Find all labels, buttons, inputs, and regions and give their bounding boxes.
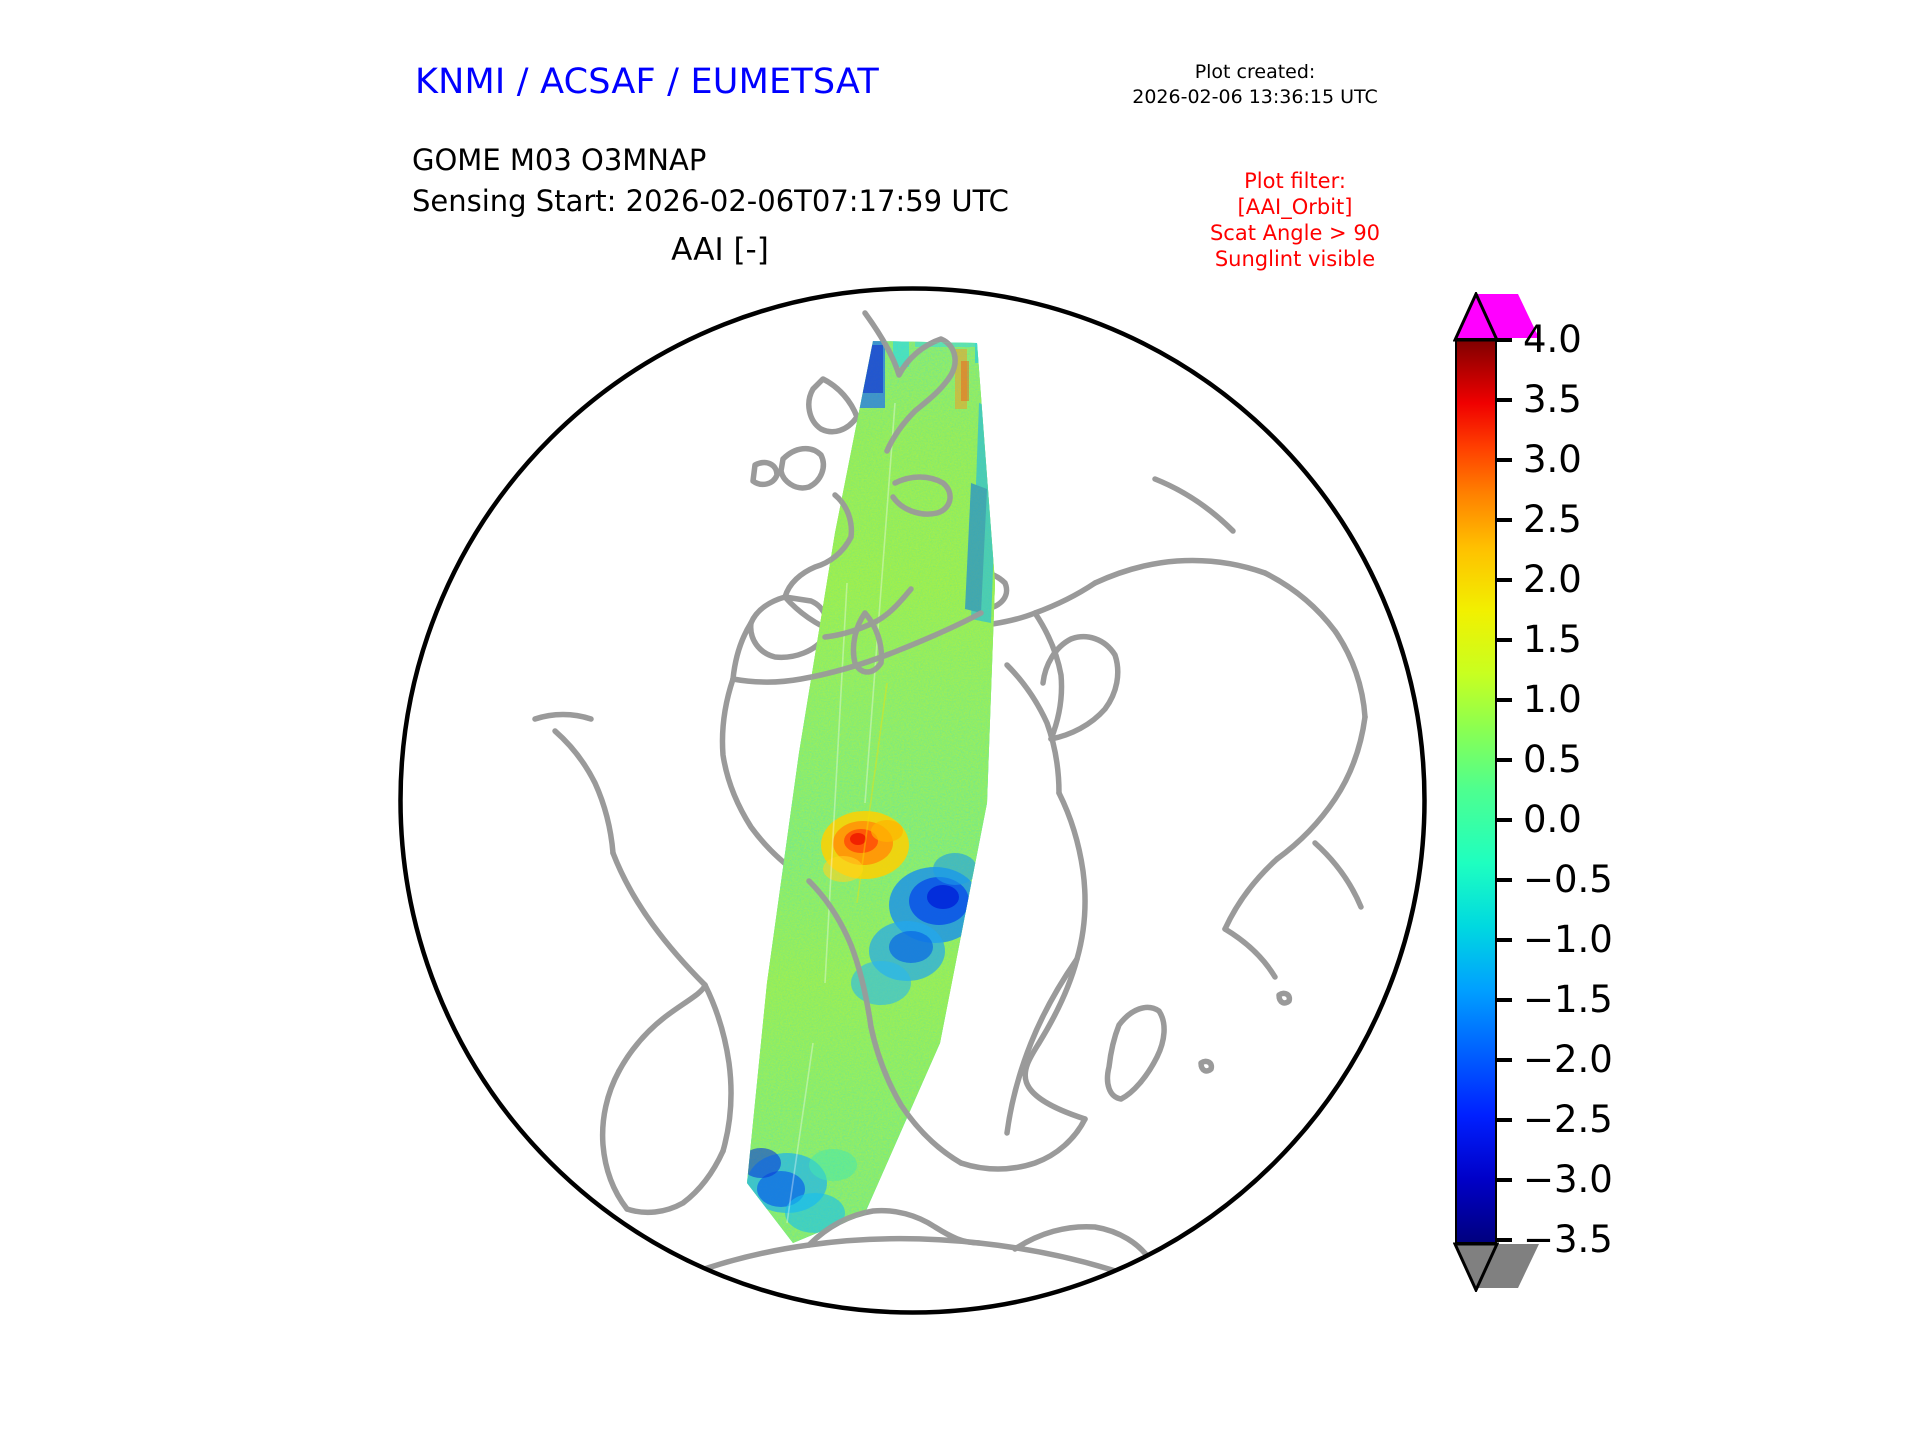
tick-mark bbox=[1497, 1178, 1512, 1182]
plot-filter-line-1: Scat Angle > 90 bbox=[1150, 220, 1440, 246]
plot-filter-block: Plot filter: [AAI_Orbit] Scat Angle > 90… bbox=[1150, 168, 1440, 272]
dataset-product-name: GOME M03 O3MNAP bbox=[412, 140, 1009, 181]
tick-mark bbox=[1497, 638, 1512, 642]
tick-mark bbox=[1497, 518, 1512, 522]
tick-label: 2.0 bbox=[1523, 558, 1582, 602]
dataset-sensing-start: Sensing Start: 2026-02-06T07:17:59 UTC bbox=[412, 181, 1009, 222]
tick-mark bbox=[1497, 1058, 1512, 1062]
plot-filter-line-0: [AAI_Orbit] bbox=[1150, 194, 1440, 220]
plot-created-block: Plot created: 2026-02-06 13:36:15 UTC bbox=[1090, 60, 1420, 110]
tick-mark bbox=[1497, 758, 1512, 762]
tick-label: 4.0 bbox=[1523, 318, 1582, 362]
tick-label: 0.0 bbox=[1523, 798, 1582, 842]
tick-label: 2.5 bbox=[1523, 498, 1582, 542]
tick-label: −2.5 bbox=[1523, 1098, 1613, 1142]
tick-label: 0.5 bbox=[1523, 738, 1582, 782]
tick-mark bbox=[1497, 578, 1512, 582]
plot-created-timestamp: 2026-02-06 13:36:15 UTC bbox=[1090, 85, 1420, 110]
plot-filter-title: Plot filter: bbox=[1150, 168, 1440, 194]
colorbar-ticks: 4.0 3.5 3.0 2.5 2.0 1.5 1.0 0.5 bbox=[1440, 280, 1840, 1320]
tick-label: −3.5 bbox=[1523, 1218, 1613, 1262]
tick-mark bbox=[1497, 878, 1512, 882]
tick-mark bbox=[1497, 1118, 1512, 1122]
tick-mark bbox=[1497, 938, 1512, 942]
tick-label: −1.5 bbox=[1523, 978, 1613, 1022]
tick-label: 3.0 bbox=[1523, 438, 1582, 482]
tick-label: −0.5 bbox=[1523, 858, 1613, 902]
tick-mark bbox=[1497, 398, 1512, 402]
colorbar-panel: 4.0 3.5 3.0 2.5 2.0 1.5 1.0 0.5 bbox=[1440, 280, 1840, 1320]
map-panel bbox=[395, 283, 1430, 1318]
tick-mark bbox=[1497, 1238, 1512, 1242]
plot-created-label: Plot created: bbox=[1090, 60, 1420, 85]
tick-mark bbox=[1497, 458, 1512, 462]
plot-filter-line-2: Sunglint visible bbox=[1150, 246, 1440, 272]
tick-label: −1.0 bbox=[1523, 918, 1613, 962]
dataset-info-block: GOME M03 O3MNAP Sensing Start: 2026-02-0… bbox=[412, 140, 1009, 222]
tick-mark bbox=[1497, 338, 1512, 342]
orthographic-globe bbox=[395, 283, 1430, 1318]
tick-label: 1.0 bbox=[1523, 678, 1582, 722]
tick-label: 1.5 bbox=[1523, 618, 1582, 662]
tick-label: −2.0 bbox=[1523, 1038, 1613, 1082]
tick-mark bbox=[1497, 998, 1512, 1002]
tick-mark bbox=[1497, 818, 1512, 822]
tick-label: 3.5 bbox=[1523, 378, 1582, 422]
tick-mark bbox=[1497, 698, 1512, 702]
header-institutions: KNMI / ACSAF / EUMETSAT bbox=[415, 62, 879, 102]
tick-label: −3.0 bbox=[1523, 1158, 1613, 1202]
